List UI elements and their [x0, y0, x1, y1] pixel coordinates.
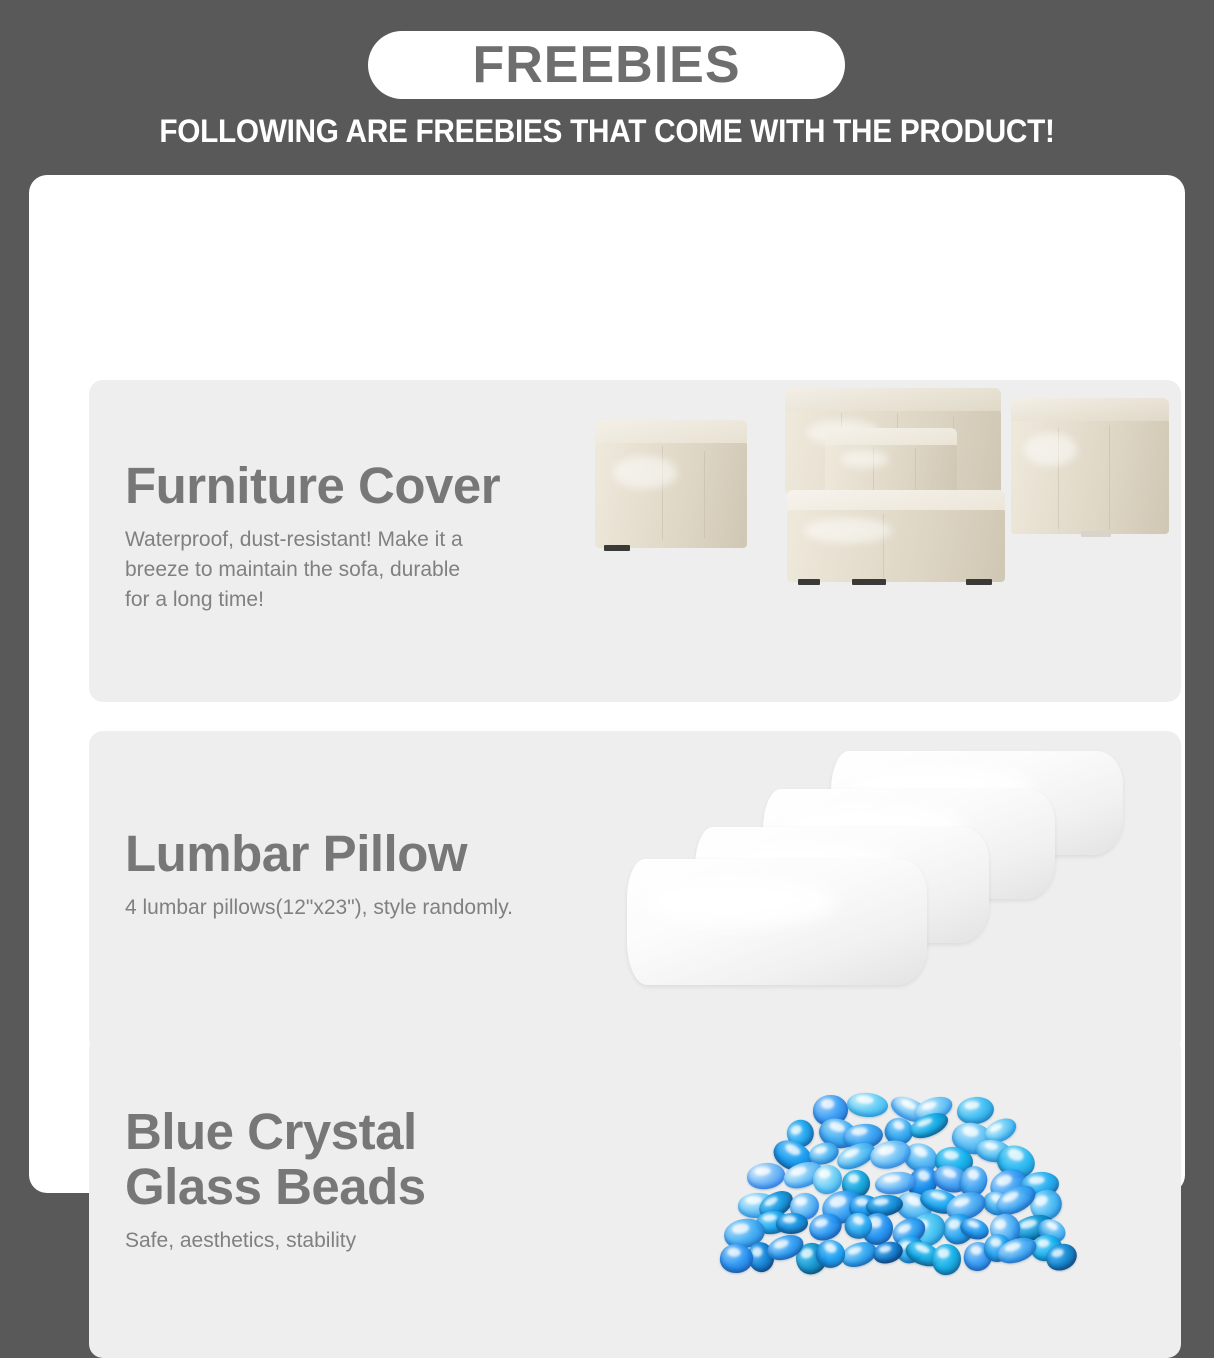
header-subtitle: FOLLOWING ARE FREEBIES THAT COME WITH TH…: [42, 113, 1171, 150]
cover-armchair-right: [1011, 398, 1169, 534]
freebie-card-glass-beads: Blue Crystal Glass Beads Safe, aesthetic…: [89, 1036, 1181, 1358]
glass-bead: [746, 1162, 786, 1191]
pillow-1: [627, 859, 927, 985]
freebies-infographic: FREEBIES FOLLOWING ARE FREEBIES THAT COM…: [0, 0, 1214, 1214]
lumbar-pillow-image: [627, 731, 1181, 1053]
glass-bead: [956, 1095, 996, 1126]
cover-side-table: [825, 428, 957, 494]
card-title: Lumbar Pillow: [125, 826, 645, 881]
card-description: Safe, aesthetics, stability: [125, 1226, 595, 1256]
card-text-block: Furniture Cover Waterproof, dust-resista…: [125, 458, 595, 615]
card-text-block: Blue Crystal Glass Beads Safe, aesthetic…: [125, 1104, 595, 1256]
furniture-cover-image: [587, 380, 1181, 702]
bead-pile: [733, 1088, 1073, 1268]
cover-armchair-left: [595, 420, 747, 548]
content-panel: Furniture Cover Waterproof, dust-resista…: [29, 175, 1185, 1193]
glass-bead: [846, 1091, 890, 1119]
card-title: Furniture Cover: [125, 458, 595, 513]
card-description: Waterproof, dust-resistant! Make it a br…: [125, 525, 595, 614]
glass-bead: [776, 1213, 808, 1235]
card-text-block: Lumbar Pillow 4 lumbar pillows(12"x23"),…: [125, 826, 645, 923]
page-title: FREEBIES: [472, 39, 740, 91]
blue-glass-beads-image: [627, 1036, 1181, 1358]
freebie-card-furniture-cover: Furniture Cover Waterproof, dust-resista…: [89, 380, 1181, 702]
glass-bead: [931, 1243, 962, 1276]
card-description: 4 lumbar pillows(12"x23"), style randoml…: [125, 893, 645, 923]
freebie-card-lumbar-pillow: Lumbar Pillow 4 lumbar pillows(12"x23"),…: [89, 731, 1181, 1053]
header-banner: FREEBIES FOLLOWING ARE FREEBIES THAT COM…: [0, 0, 1214, 175]
cover-ottoman: [787, 490, 1005, 582]
card-title: Blue Crystal Glass Beads: [125, 1104, 595, 1214]
glass-bead: [812, 1164, 843, 1195]
page-title-pill: FREEBIES: [368, 31, 845, 99]
